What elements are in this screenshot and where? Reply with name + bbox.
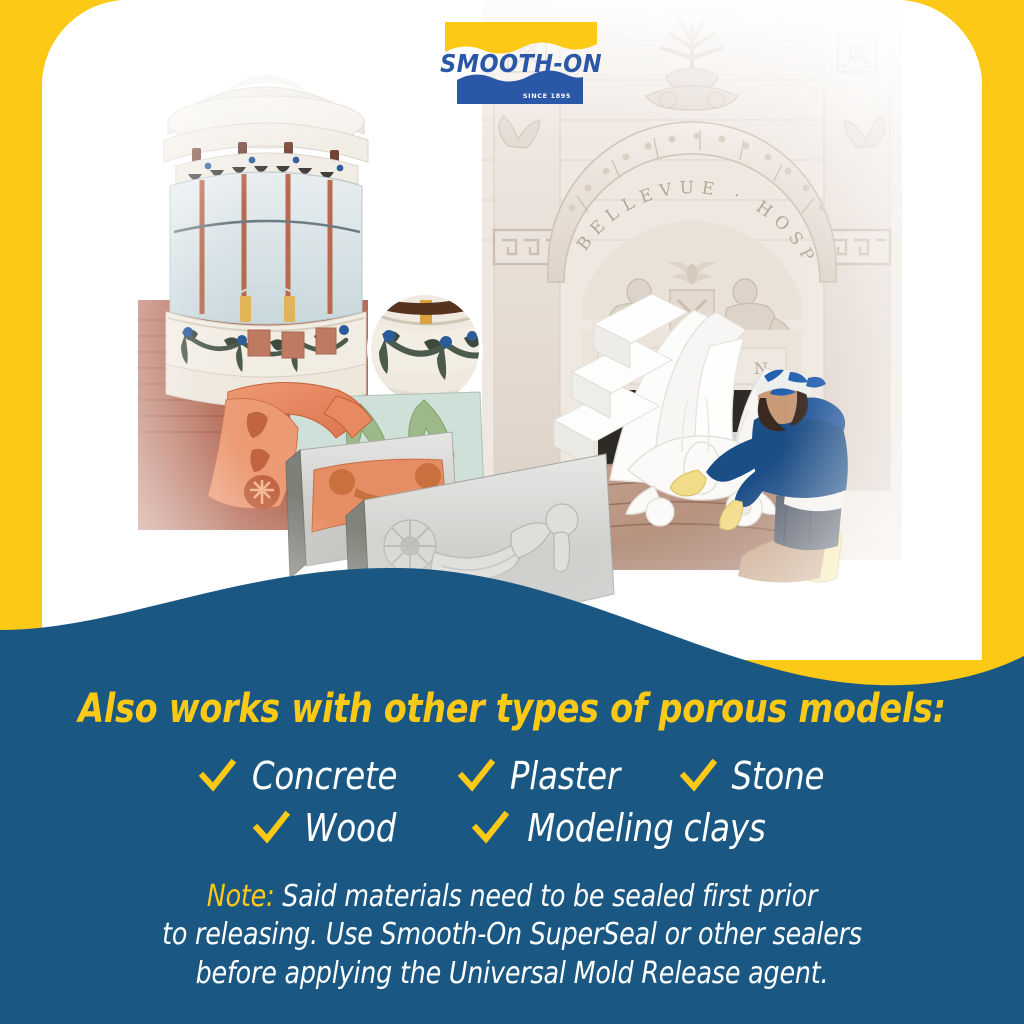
check-icon [198,757,236,795]
checklist-label: Concrete [251,754,397,798]
checklist-label: Plaster [510,754,620,798]
check-icon [471,809,509,847]
checklist-item-wood: Wood [252,806,399,850]
checklist-label: Modeling clays [527,806,765,850]
check-icon [679,757,717,795]
note-line-2: to releasing. Use Smooth-On SuperSeal or… [89,916,935,954]
note-line-3: before applying the Universal Mold Relea… [89,955,935,993]
note-text: Note: Said materials need to be sealed f… [0,878,1024,993]
check-icon [457,757,495,795]
checklist-row-2: Wood Modeling clays [0,806,1024,850]
section-headline: Also works with other types of porous mo… [36,686,988,732]
checklist-item-plaster: Plaster [457,754,623,798]
promo-poster: BELLEVUE · HOSPITAL [0,0,1024,1024]
note-keyword: Note: [207,879,275,914]
checklist-item-concrete: Concrete [198,754,401,798]
check-icon [252,809,290,847]
logo-wordmark: SMOOTH-ON [440,49,602,78]
logo-tagline: SINCE 1895 [523,92,571,100]
checklist-item-modeling-clays: Modeling clays [471,806,772,850]
checklist-label: Stone [731,754,824,798]
checklist-row-1: Concrete Plaster Stone [0,754,1024,798]
note-line-1-text: Said materials need to be sealed first p… [274,879,817,914]
checklist-item-stone: Stone [679,754,827,798]
bottom-text-section: Also works with other types of porous mo… [0,660,1024,1024]
checklist-label: Wood [305,806,397,850]
note-line-1: Note: Said materials need to be sealed f… [89,878,935,916]
smooth-on-logo: SMOOTH-ON SINCE 1895 [437,22,605,104]
